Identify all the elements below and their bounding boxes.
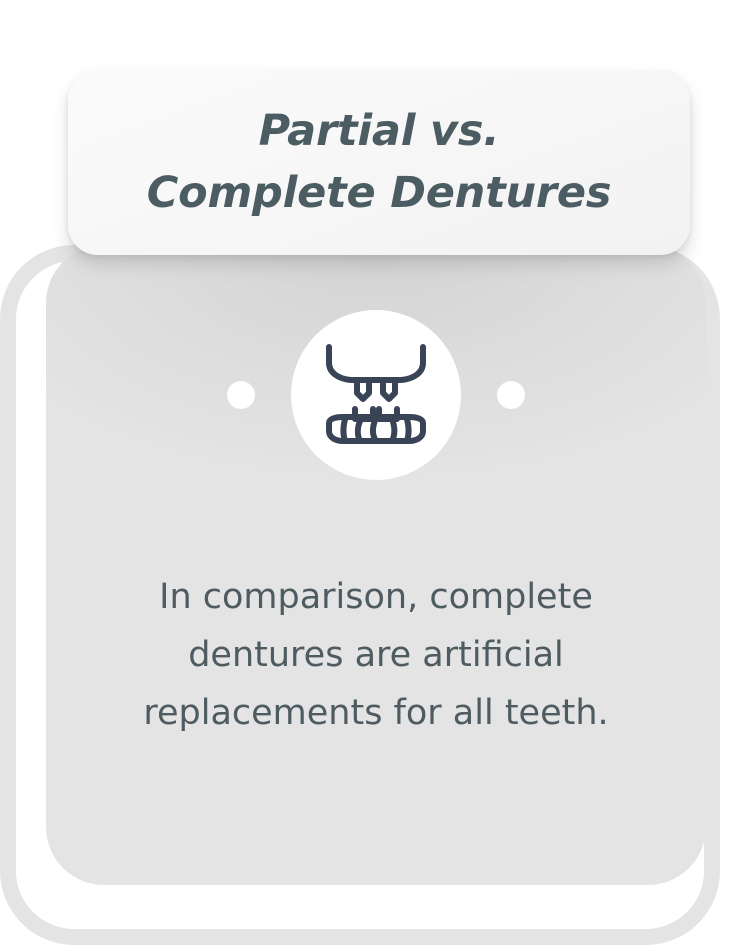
icon-row: [46, 310, 706, 480]
page-title: Partial vs. Complete Dentures: [147, 101, 611, 224]
dentures-icon: [317, 343, 435, 447]
infographic-card-stage: Partial vs. Complete Dentures: [0, 0, 750, 930]
title-plate: Partial vs. Complete Dentures: [68, 70, 690, 255]
icon-badge: [291, 310, 461, 480]
side-dot-left-icon: [227, 381, 255, 409]
side-dot-right-icon: [497, 381, 525, 409]
card-body-text: In comparison, complete dentures are art…: [76, 568, 676, 742]
